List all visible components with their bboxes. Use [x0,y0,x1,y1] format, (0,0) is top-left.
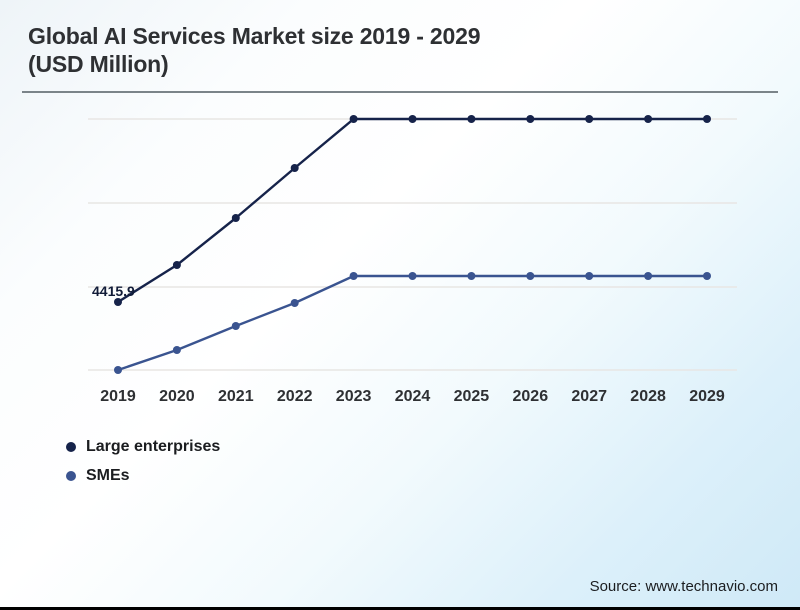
x-axis-tick-2026: 2026 [500,388,560,406]
x-axis-tick-2024: 2024 [383,388,443,406]
chart-legend: Large enterprises SMEs [66,432,220,490]
legend-label-large-enterprises: Large enterprises [86,438,220,456]
data-point-large-enterprises-2025[interactable] [467,115,475,123]
data-point-smes-2022[interactable] [291,299,299,307]
data-label-first-point: 4415.9 [92,283,135,299]
data-point-large-enterprises-2029[interactable] [703,115,711,123]
x-axis-tick-2027: 2027 [559,388,619,406]
x-axis-tick-2020: 2020 [147,388,207,406]
data-point-large-enterprises-2019[interactable] [114,298,122,306]
data-point-large-enterprises-2021[interactable] [232,214,240,222]
legend-marker-icon-large-enterprises [66,442,76,452]
data-point-smes-2025[interactable] [467,272,475,280]
data-point-smes-2026[interactable] [526,272,534,280]
legend-marker-icon-smes [66,471,76,481]
x-axis-tick-2025: 2025 [441,388,501,406]
x-axis-tick-2028: 2028 [618,388,678,406]
data-point-smes-2028[interactable] [644,272,652,280]
x-axis-tick-2021: 2021 [206,388,266,406]
data-point-large-enterprises-2026[interactable] [526,115,534,123]
data-point-smes-2027[interactable] [585,272,593,280]
data-point-large-enterprises-2022[interactable] [291,164,299,172]
slide-canvas: Global AI Services Market size 2019 - 20… [0,0,800,610]
data-point-large-enterprises-2027[interactable] [585,115,593,123]
data-point-smes-2020[interactable] [173,346,181,354]
series-group [114,115,711,374]
legend-item-large-enterprises[interactable]: Large enterprises [66,432,220,461]
data-point-smes-2029[interactable] [703,272,711,280]
data-point-large-enterprises-2024[interactable] [409,115,417,123]
data-point-smes-2021[interactable] [232,322,240,330]
legend-label-smes: SMEs [86,467,130,485]
x-axis-tick-2019: 2019 [88,388,148,406]
series-line-smes [118,276,707,370]
x-axis-labels: 2019202020212022202320242025202620272028… [0,388,800,410]
line-chart-plot [0,0,800,610]
data-point-smes-2019[interactable] [114,366,122,374]
source-attribution: Source: www.technavio.com [590,578,778,595]
gridlines-group [88,119,737,370]
x-axis-tick-2023: 2023 [324,388,384,406]
data-point-smes-2024[interactable] [409,272,417,280]
data-point-large-enterprises-2023[interactable] [350,115,358,123]
data-point-large-enterprises-2028[interactable] [644,115,652,123]
data-point-smes-2023[interactable] [350,272,358,280]
x-axis-tick-2029: 2029 [677,388,737,406]
x-axis-tick-2022: 2022 [265,388,325,406]
legend-item-smes[interactable]: SMEs [66,461,220,490]
data-point-large-enterprises-2020[interactable] [173,261,181,269]
